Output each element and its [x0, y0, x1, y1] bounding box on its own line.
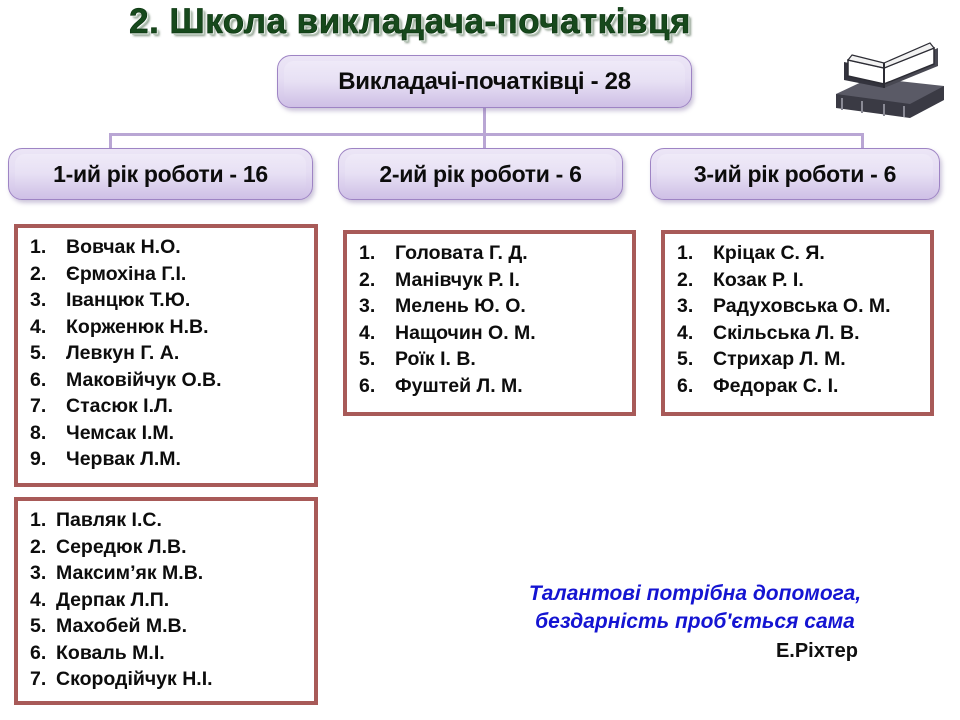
list-item-label: Манівчук Р. І.	[395, 267, 520, 294]
list-item: 1.Головата Г. Д.	[347, 240, 632, 267]
list-item: 3.Радуховська О. М.	[665, 293, 930, 320]
list-items: 1.Кріцак С. Я.2.Козак Р. І.3.Радуховська…	[665, 240, 930, 399]
connector-horizontal	[109, 133, 864, 136]
list-item: 4.Скільська Л. В.	[665, 320, 930, 347]
list-item-number: 1.	[347, 240, 395, 267]
name-list-year2: 1.Головата Г. Д.2.Манівчук Р. І.3.Мелень…	[343, 230, 636, 416]
list-item-number: 5.	[665, 346, 713, 373]
list-item-number: 4.	[347, 320, 395, 347]
list-item: 5.Левкун Г. А.	[18, 340, 314, 367]
list-item-number: 5.	[347, 346, 395, 373]
list-item: 1.Кріцак С. Я.	[665, 240, 930, 267]
org-branch-label-year2: 2-ий рік роботи - 6	[379, 161, 581, 188]
name-list-year1-part1: 1.Вовчак Н.О.2.Єрмохіна Г.І.3.Іванцюк Т.…	[14, 224, 318, 487]
list-item-label: Мелень Ю. О.	[395, 293, 526, 320]
list-item-number: 6.	[347, 373, 395, 400]
list-item-label: Скородійчук Н.І.	[56, 666, 213, 693]
list-item: 4.Корженюк Н.В.	[18, 314, 314, 341]
org-branch-box-year3[interactable]: 3-ий рік роботи - 6	[650, 148, 940, 200]
list-item: 2.Манівчук Р. І.	[347, 267, 632, 294]
list-item: 8.Чемсак І.М.	[18, 420, 314, 447]
list-item-label: Чемсак І.М.	[66, 420, 174, 447]
list-item-number: 3.	[347, 293, 395, 320]
name-list-year1-part2: 1.Павляк І.С.2.Середюк Л.В.3.Максим’як М…	[14, 497, 318, 705]
org-branch-label-year1: 1-ий рік роботи - 16	[53, 161, 268, 188]
list-item: 6.Фуштей Л. М.	[347, 373, 632, 400]
list-item-label: Маковійчук О.В.	[66, 367, 222, 394]
list-item-label: Нащочин О. М.	[395, 320, 536, 347]
list-item-number: 4.	[665, 320, 713, 347]
list-item: 7.Скородійчук Н.І.	[18, 666, 314, 693]
quote-author: Е.Ріхтер	[490, 640, 900, 663]
list-item-label: Федорак С. І.	[713, 373, 838, 400]
list-item-number: 2.	[18, 261, 66, 288]
list-item-label: Єрмохіна Г.І.	[66, 261, 186, 288]
list-item: 5.Махобей М.В.	[18, 613, 314, 640]
list-item-label: Іванцюк Т.Ю.	[66, 287, 190, 314]
connector-root-down	[483, 108, 486, 136]
quote-block: Талантові потрібна допомога, бездарність…	[490, 580, 900, 663]
list-item-number: 3.	[18, 560, 56, 587]
list-items: 1.Головата Г. Д.2.Манівчук Р. І.3.Мелень…	[347, 240, 632, 399]
list-item: 3.Мелень Ю. О.	[347, 293, 632, 320]
list-item-number: 4.	[18, 587, 56, 614]
list-item: 9.Червак Л.М.	[18, 446, 314, 473]
list-item-number: 6.	[665, 373, 713, 400]
list-item: 5.Стрихар Л. М.	[665, 346, 930, 373]
list-item-number: 3.	[18, 287, 66, 314]
list-item-label: Стрихар Л. М.	[713, 346, 846, 373]
list-items: 1.Павляк І.С.2.Середюк Л.В.3.Максим’як М…	[18, 507, 314, 693]
list-item-number: 7.	[18, 666, 56, 693]
list-item-number: 2.	[18, 534, 56, 561]
list-item: 4.Дерпак Л.П.	[18, 587, 314, 614]
list-item-number: 5.	[18, 613, 56, 640]
list-item-label: Максим’як М.В.	[56, 560, 203, 587]
list-item-number: 6.	[18, 640, 56, 667]
org-root-label: Викладачі-початківці - 28	[338, 68, 631, 96]
list-item-number: 3.	[665, 293, 713, 320]
quote-line-1: Талантові потрібна допомога,	[490, 580, 900, 608]
list-item: 6.Маковійчук О.В.	[18, 367, 314, 394]
list-item-label: Середюк Л.В.	[56, 534, 187, 561]
list-item: 3.Іванцюк Т.Ю.	[18, 287, 314, 314]
list-item-number: 2.	[665, 267, 713, 294]
org-branch-box-year2[interactable]: 2-ий рік роботи - 6	[338, 148, 623, 200]
list-item: 6.Коваль М.І.	[18, 640, 314, 667]
list-item-number: 2.	[347, 267, 395, 294]
list-item-label: Стасюк І.Л.	[66, 393, 173, 420]
name-list-year3: 1.Кріцак С. Я.2.Козак Р. І.3.Радуховська…	[661, 230, 934, 416]
list-item-number: 1.	[18, 507, 56, 534]
org-branch-box-year1[interactable]: 1-ий рік роботи - 16	[8, 148, 313, 200]
list-item: 6.Федорак С. І.	[665, 373, 930, 400]
list-item: 2.Козак Р. І.	[665, 267, 930, 294]
list-item-label: Коваль М.І.	[56, 640, 165, 667]
list-items: 1.Вовчак Н.О.2.Єрмохіна Г.І.3.Іванцюк Т.…	[18, 234, 314, 473]
list-item: 2.Середюк Л.В.	[18, 534, 314, 561]
list-item-label: Роїк І. В.	[395, 346, 476, 373]
list-item-number: 6.	[18, 367, 66, 394]
org-root-box[interactable]: Викладачі-початківці - 28	[277, 55, 692, 108]
list-item: 2.Єрмохіна Г.І.	[18, 261, 314, 288]
list-item-label: Фуштей Л. М.	[395, 373, 523, 400]
list-item-label: Махобей М.В.	[56, 613, 187, 640]
list-item-label: Головата Г. Д.	[395, 240, 528, 267]
list-item-label: Червак Л.М.	[66, 446, 181, 473]
list-item-label: Радуховська О. М.	[713, 293, 891, 320]
list-item-number: 1.	[665, 240, 713, 267]
list-item-label: Скільська Л. В.	[713, 320, 860, 347]
list-item-label: Левкун Г. А.	[66, 340, 179, 367]
page-title: 2. Школа викладача-початківця	[0, 2, 820, 42]
list-item-label: Корженюк Н.В.	[66, 314, 209, 341]
list-item-number: 8.	[18, 420, 66, 447]
list-item-label: Дерпак Л.П.	[56, 587, 169, 614]
open-book-icon	[818, 22, 958, 122]
list-item: 7.Стасюк І.Л.	[18, 393, 314, 420]
list-item-label: Козак Р. І.	[713, 267, 804, 294]
list-item: 1.Вовчак Н.О.	[18, 234, 314, 261]
org-branch-label-year3: 3-ий рік роботи - 6	[694, 161, 896, 188]
list-item-label: Павляк І.С.	[56, 507, 162, 534]
list-item-number: 9.	[18, 446, 66, 473]
list-item-number: 4.	[18, 314, 66, 341]
list-item-label: Вовчак Н.О.	[66, 234, 181, 261]
list-item-number: 1.	[18, 234, 66, 261]
list-item: 1.Павляк І.С.	[18, 507, 314, 534]
list-item-number: 7.	[18, 393, 66, 420]
list-item: 5.Роїк І. В.	[347, 346, 632, 373]
list-item-number: 5.	[18, 340, 66, 367]
list-item: 3.Максим’як М.В.	[18, 560, 314, 587]
list-item: 4.Нащочин О. М.	[347, 320, 632, 347]
list-item-label: Кріцак С. Я.	[713, 240, 825, 267]
quote-line-2: бездарність проб'ється сама	[490, 608, 900, 636]
